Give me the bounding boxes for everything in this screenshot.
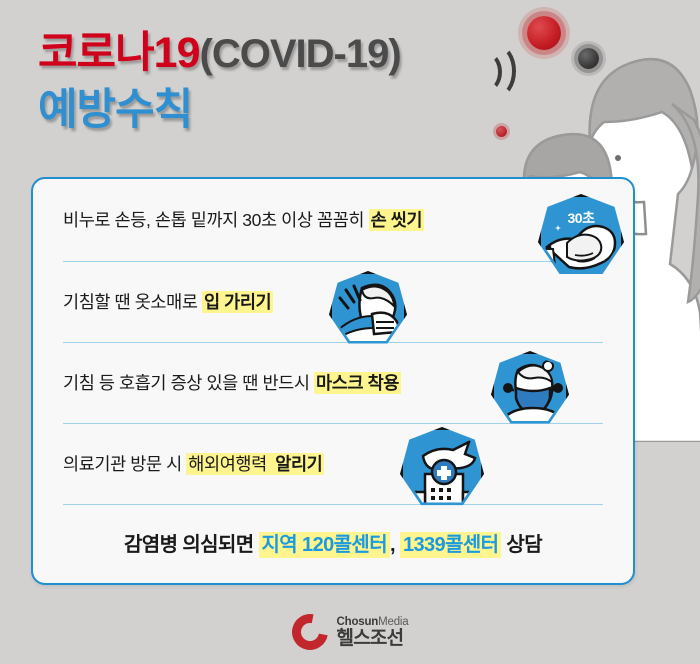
rule-text: 기침할 땐 옷소매로 입 가리기 [63, 290, 273, 314]
rule-text: 의료기관 방문 시 해외여행력 알리기 [63, 452, 324, 476]
contact-line: 감염병 의심되면 지역 120콜센터, 1339콜센터 상담 [33, 528, 633, 557]
footer: ChosunMedia 헬스조선 [0, 600, 700, 664]
brand-chosun: Chosun [337, 616, 379, 628]
title-line-primary: 코로나19(COVID-19) [38, 28, 508, 79]
rule-text-highlight: 마스크 착용 [314, 372, 401, 394]
rule-text: 비누로 손등, 손톱 밑까지 30초 이상 꼼꼼히 손 씻기 [63, 208, 424, 232]
rule-text-highlight: 손 씻기 [369, 209, 425, 231]
poster-header: 코로나19(COVID-19) 예방수칙 [0, 0, 700, 176]
logo-text-block: ChosunMedia 헬스조선 [337, 616, 409, 649]
brand-media: Media [378, 616, 408, 628]
contact-national-center[interactable]: 1339콜센터 [400, 532, 502, 558]
rule-text-plain: 기침 등 호흡기 증상 있을 땐 반드시 [63, 373, 314, 393]
title-subtitle: 예방수칙 [38, 85, 508, 135]
contact-separator: , [390, 534, 400, 556]
title-korean: 코로나19 [38, 29, 200, 77]
title-english: (COVID-19) [200, 32, 401, 76]
chosun-c-mark-icon [285, 607, 335, 657]
virus-particle-dark [578, 48, 599, 69]
contact-local-center[interactable]: 지역 120콜센터 [259, 532, 391, 558]
brand-name-korean: 헬스조선 [337, 629, 409, 649]
rule-text-plain: 의료기관 방문 시 [63, 454, 186, 474]
virus-particle-red-large [527, 16, 561, 50]
prevention-rules-card: 비누로 손등, 손톱 밑까지 30초 이상 꼼꼼히 손 씻기 기침할 땐 옷소매… [31, 177, 635, 585]
rule-text-highlight: 입 가리기 [202, 291, 273, 313]
brand-name-top: ChosunMedia [337, 616, 409, 628]
contact-trail: 상담 [501, 534, 542, 556]
title-block: 코로나19(COVID-19) 예방수칙 [38, 28, 508, 135]
duration-badge: 30초 [568, 208, 595, 228]
rule-text-highlight-plain: 해외여행력 [186, 453, 273, 475]
rule-text-highlight: 알리기 [273, 453, 324, 475]
rule-row: 비누로 손등, 손톱 밑까지 30초 이상 꼼꼼히 손 씻기 [63, 179, 603, 262]
rule-text-plain: 기침할 땐 옷소매로 [63, 292, 202, 312]
chosun-media-logo[interactable]: ChosunMedia 헬스조선 [292, 614, 409, 650]
rule-row: 의료기관 방문 시 해외여행력 알리기 [63, 424, 603, 505]
rule-text-plain: 비누로 손등, 손톱 밑까지 30초 이상 꼼꼼히 [63, 210, 369, 230]
rule-text: 기침 등 호흡기 증상 있을 땐 반드시 마스크 착용 [63, 371, 401, 395]
contact-lead: 감염병 의심되면 [124, 534, 259, 556]
